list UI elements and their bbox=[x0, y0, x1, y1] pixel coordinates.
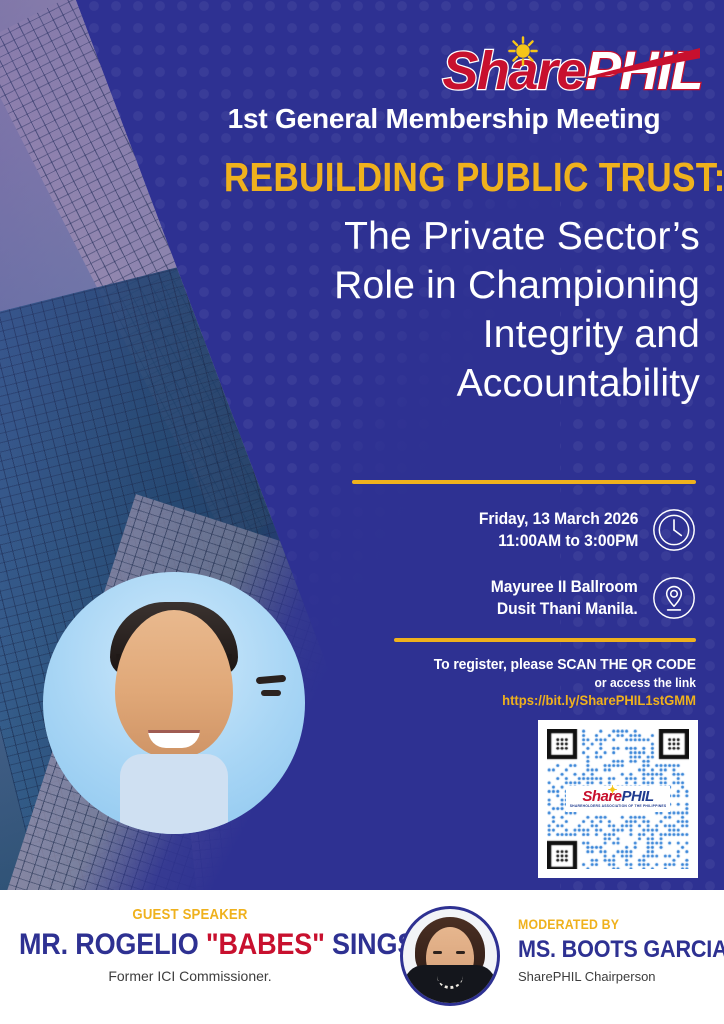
clock-icon bbox=[652, 508, 696, 552]
schedule-time: 11:00AM to 3:00PM bbox=[479, 530, 638, 552]
registration-link[interactable]: https://bit.ly/SharePHIL1stGMM bbox=[380, 692, 696, 708]
subtitle-line: Role in Championing bbox=[188, 261, 700, 310]
guest-speaker-name: MR. ROGELIO "BABES" SINGSON bbox=[19, 928, 361, 962]
poster-title: REBUILDING PUBLIC TRUST: bbox=[224, 157, 664, 198]
qr-logo-phil: PHIL bbox=[622, 788, 654, 805]
moderator-kicker: MODERATED BY bbox=[518, 916, 699, 932]
footer-band: GUEST SPEAKER MR. ROGELIO "BABES" SINGSO… bbox=[0, 890, 724, 1024]
venue-hotel: Dusit Thani Manila. bbox=[491, 598, 638, 620]
meeting-kicker: 1st General Membership Meeting bbox=[188, 104, 700, 135]
register-instruction: To register, please SCAN THE QR CODE bbox=[380, 656, 696, 673]
registration-block: To register, please SCAN THE QR CODE or … bbox=[356, 656, 696, 708]
event-poster: SharePHIL bbox=[0, 0, 724, 1024]
venue-room: Mayuree II Ballroom bbox=[491, 576, 638, 598]
schedule-text: Friday, 13 March 2026 11:00AM to 3:00PM bbox=[479, 508, 638, 552]
speaker-name-prefix: MR. ROGELIO bbox=[19, 928, 206, 961]
speaker-name-nickname: "BABES" bbox=[206, 928, 325, 961]
moderator-portrait bbox=[400, 906, 500, 1006]
moderator-name: MS. BOOTS GARCIA bbox=[518, 936, 703, 964]
poster-subtitle: The Private Sector’s Role in Championing… bbox=[188, 212, 700, 409]
headline-block: 1st General Membership Meeting REBUILDIN… bbox=[188, 104, 700, 408]
venue-row: Mayuree II Ballroom Dusit Thani Manila. bbox=[366, 576, 696, 620]
moderator-block: MODERATED BY MS. BOOTS GARCIA SharePHIL … bbox=[518, 916, 724, 984]
register-alt-label: or access the link bbox=[380, 675, 696, 690]
philippine-sun-icon bbox=[608, 785, 617, 794]
subtitle-line: Accountability bbox=[188, 359, 700, 408]
guest-speaker-block: GUEST SPEAKER MR. ROGELIO "BABES" SINGSO… bbox=[0, 906, 380, 984]
qr-logo-tagline: SHAREHOLDERS ASSOCIATION OF THE PHILIPPI… bbox=[570, 805, 667, 808]
qr-center-logo: SharePHIL SHAREHOLDERS ASSOCIATION OF TH… bbox=[566, 786, 670, 812]
logo-phil-text: PHIL bbox=[585, 41, 702, 101]
gold-divider-bottom bbox=[394, 638, 696, 642]
guest-speaker-portrait bbox=[43, 572, 305, 834]
venue-text: Mayuree II Ballroom Dusit Thani Manila. bbox=[491, 576, 638, 620]
subtitle-line: The Private Sector’s bbox=[188, 212, 700, 261]
guest-speaker-kicker: GUEST SPEAKER bbox=[23, 906, 357, 923]
event-details: Friday, 13 March 2026 11:00AM to 3:00PM … bbox=[366, 508, 696, 636]
philippine-sun-icon bbox=[508, 36, 538, 66]
sharephil-logo: SharePHIL bbox=[442, 34, 702, 98]
guest-speaker-role: Former ICI Commissioner. bbox=[0, 968, 380, 984]
gold-divider-top bbox=[352, 480, 696, 484]
qr-code-card[interactable]: SharePHIL SHAREHOLDERS ASSOCIATION OF TH… bbox=[538, 720, 698, 878]
location-pin-icon bbox=[652, 576, 696, 620]
schedule-row: Friday, 13 March 2026 11:00AM to 3:00PM bbox=[366, 508, 696, 552]
moderator-role: SharePHIL Chairperson bbox=[518, 969, 724, 984]
schedule-date: Friday, 13 March 2026 bbox=[479, 508, 638, 530]
subtitle-line: Integrity and bbox=[188, 310, 700, 359]
